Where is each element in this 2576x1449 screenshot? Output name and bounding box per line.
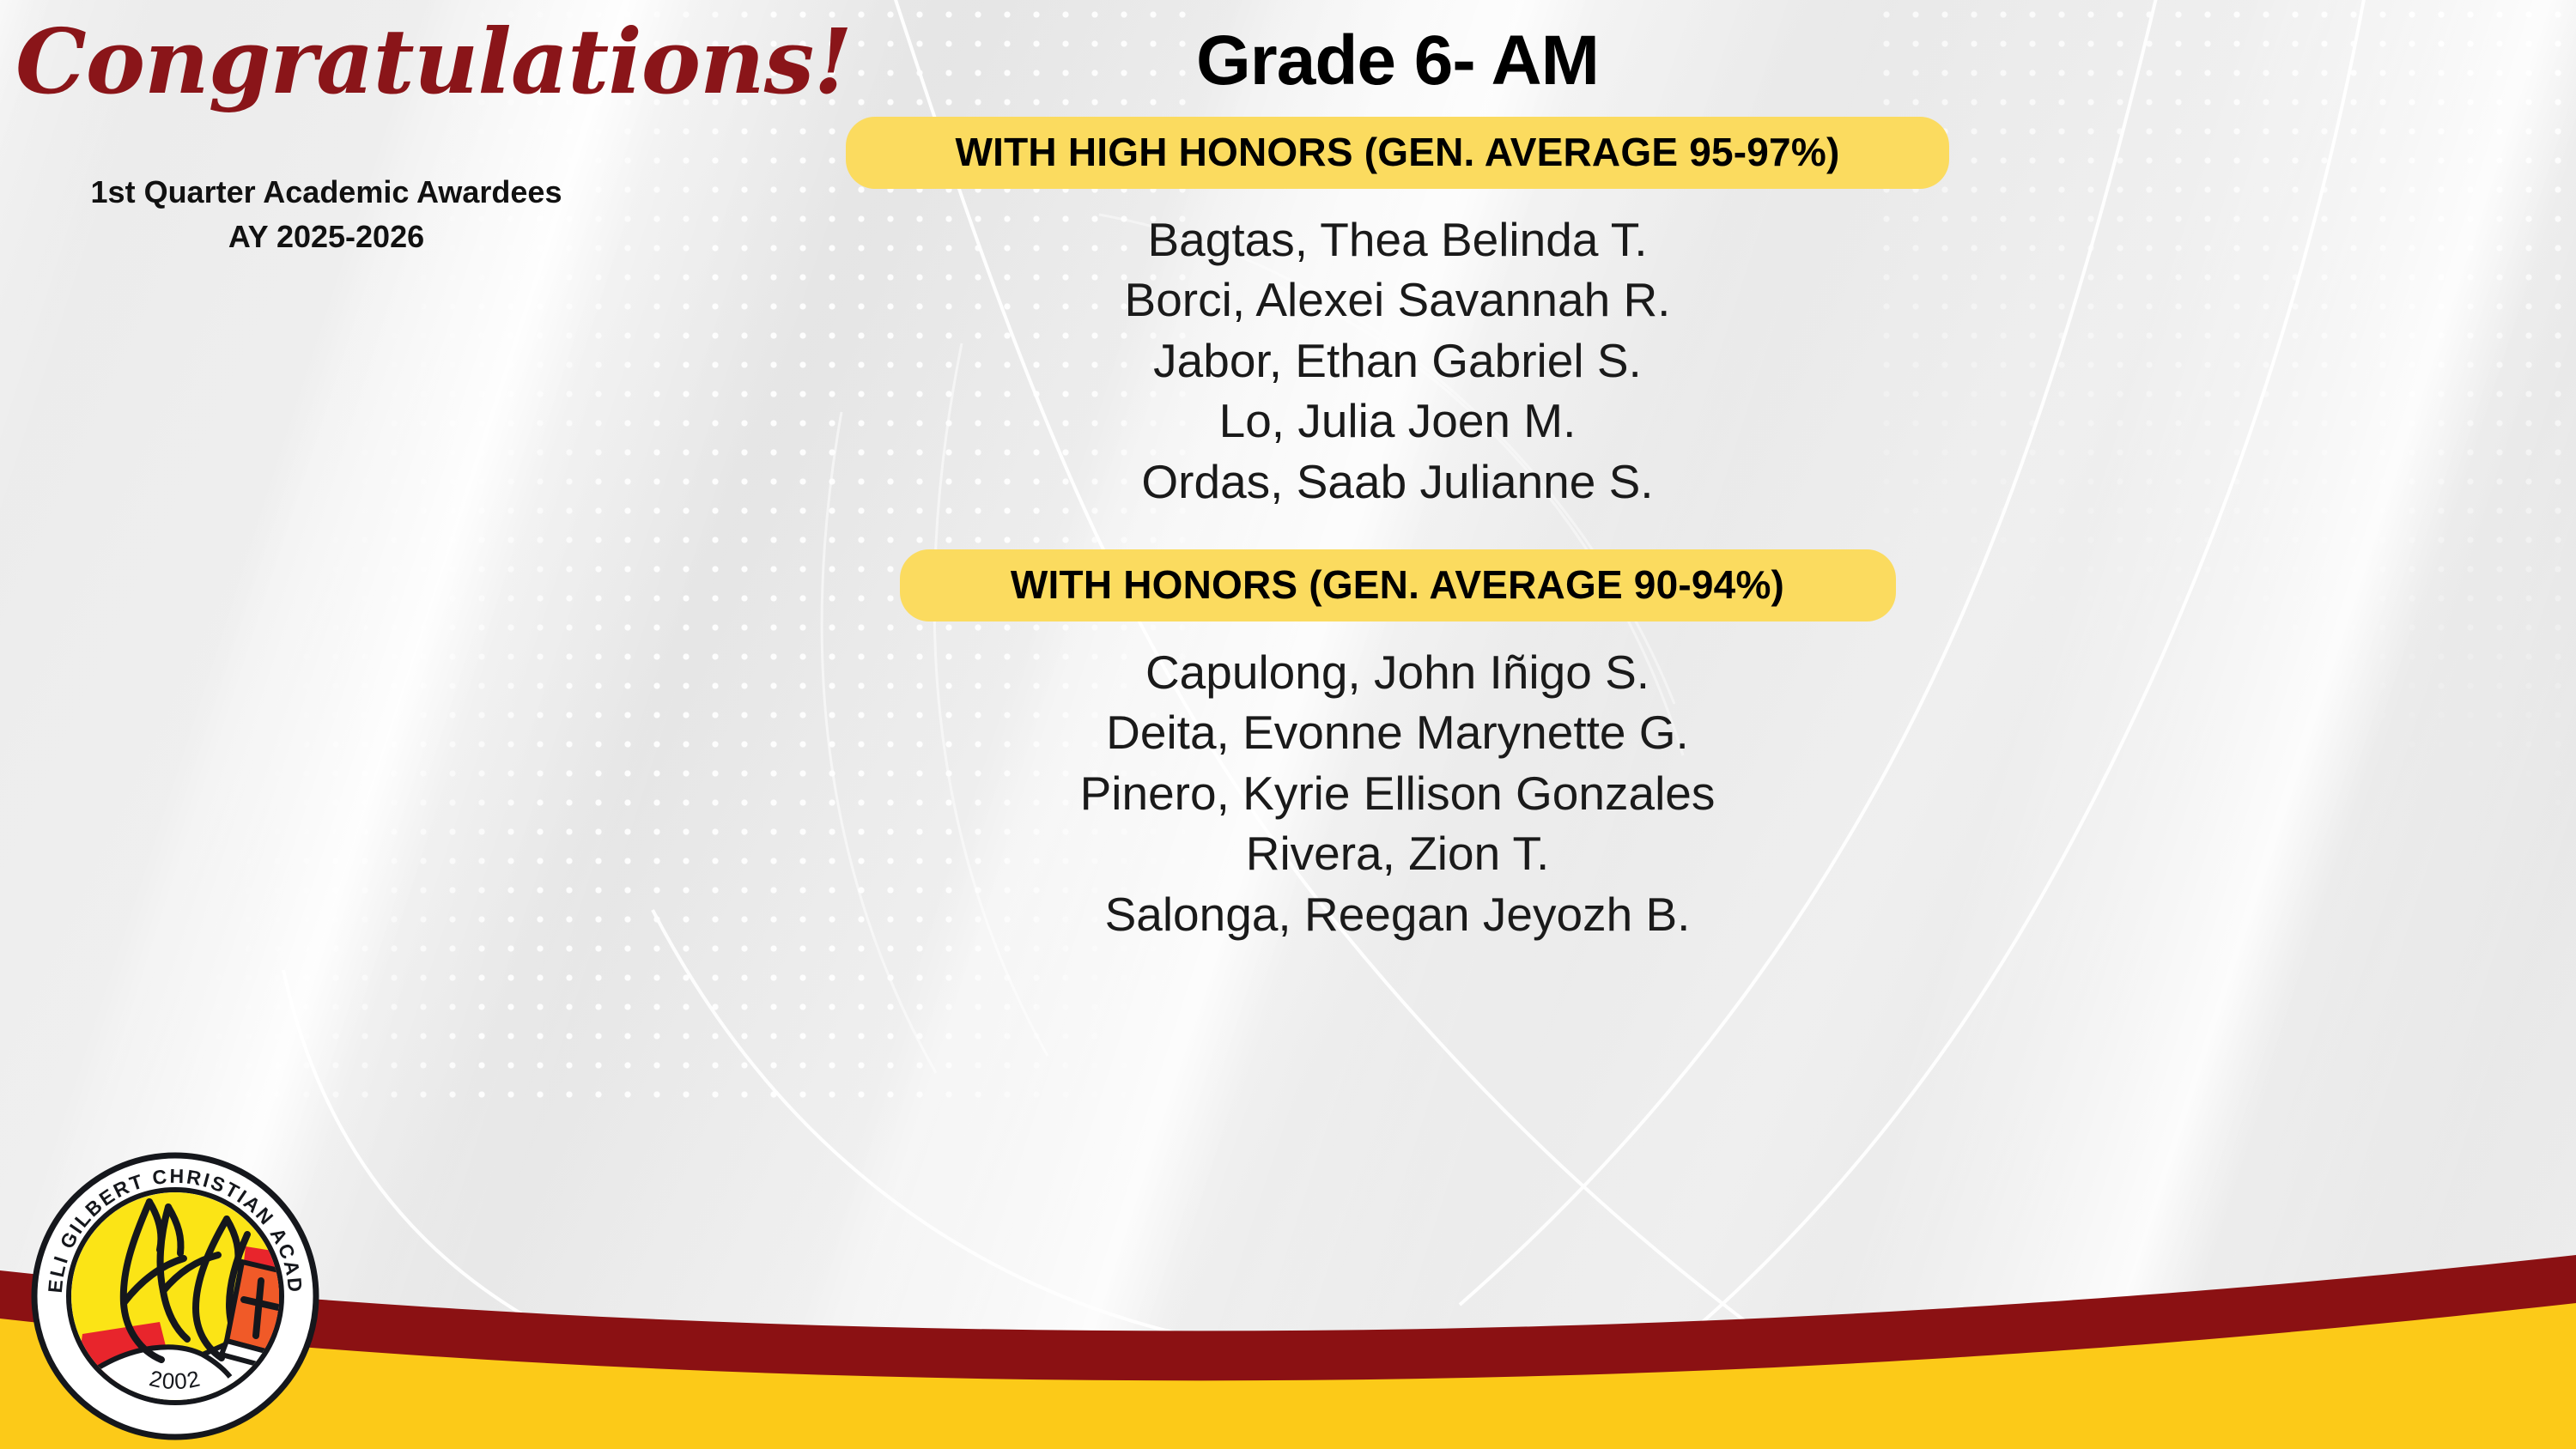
congratulations-heading: Congratulations! (15, 9, 771, 114)
subtitle-line-2: AY 2025-2026 (9, 215, 644, 259)
list-item: Lo, Julia Joen M. (846, 391, 1949, 451)
list-item: Capulong, John Iñigo S. (846, 642, 1949, 702)
grade-title: Grade 6- AM (846, 24, 1949, 98)
list-item: Rivera, Zion T. (846, 823, 1949, 883)
high-honors-name-list: Bagtas, Thea Belinda T. Borci, Alexei Sa… (846, 209, 1949, 512)
badge-with-honors: WITH HONORS (GEN. AVERAGE 90-94%) (900, 549, 1896, 621)
school-logo: ANGELI GILBERT CHRISTIAN ACADEMY 2002 (31, 1152, 319, 1440)
poster-canvas: Congratulations! 1st Quarter Academic Aw… (0, 0, 2576, 1449)
event-subtitle: 1st Quarter Academic Awardees AY 2025-20… (9, 170, 644, 259)
list-item: Ordas, Saab Julianne S. (846, 452, 1949, 512)
subtitle-line-1: 1st Quarter Academic Awardees (91, 174, 562, 209)
badge-with-high-honors: WITH HIGH HONORS (GEN. AVERAGE 95-97%) (846, 117, 1949, 189)
section-spacer (846, 512, 1949, 530)
list-item: Pinero, Kyrie Ellison Gonzales (846, 763, 1949, 823)
awardees-panel: Grade 6- AM WITH HIGH HONORS (GEN. AVERA… (846, 0, 1949, 944)
seal-year-text: 2002 (147, 1365, 204, 1394)
bottom-wave-bands (0, 1191, 2576, 1449)
list-item: Salonga, Reegan Jeyozh B. (846, 884, 1949, 944)
list-item: Jabor, Ethan Gabriel S. (846, 330, 1949, 391)
list-item: Bagtas, Thea Belinda T. (846, 209, 1949, 270)
honors-name-list: Capulong, John Iñigo S. Deita, Evonne Ma… (846, 642, 1949, 944)
school-seal-icon: ANGELI GILBERT CHRISTIAN ACADEMY 2002 (31, 1152, 319, 1440)
list-item: Deita, Evonne Marynette G. (846, 702, 1949, 762)
list-item: Borci, Alexei Savannah R. (846, 270, 1949, 330)
